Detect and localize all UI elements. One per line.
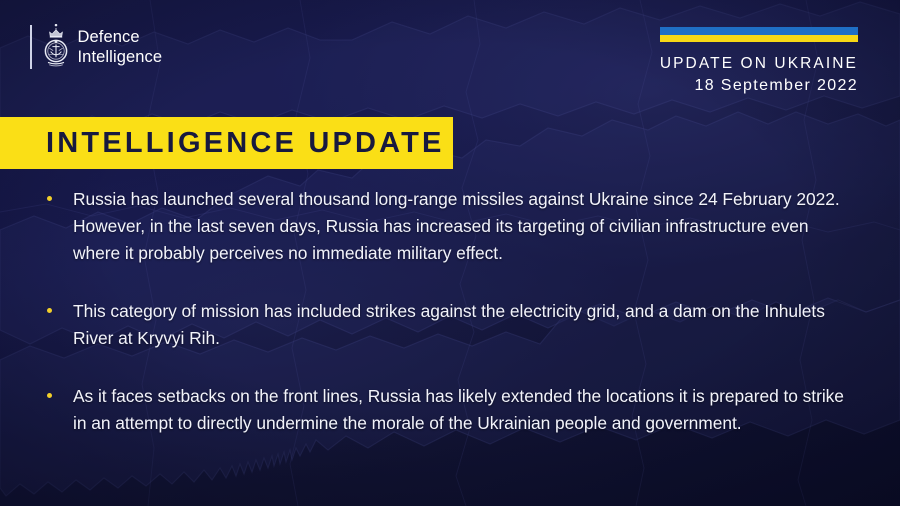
bullet-dot-icon [47, 196, 52, 201]
bullet-text: Russia has launched several thousand lon… [73, 189, 840, 263]
brand-wordmark: Defence Intelligence [78, 27, 163, 67]
intelligence-update-banner: INTELLIGENCE UPDATE [0, 117, 453, 169]
list-item: Russia has launched several thousand lon… [46, 186, 846, 267]
ukraine-flag-bar [660, 27, 858, 42]
bullet-dot-icon [47, 393, 52, 398]
bullet-text: This category of mission has included st… [73, 301, 825, 348]
flag-blue-stripe [660, 27, 858, 35]
bullet-dot-icon [47, 308, 52, 313]
list-item: This category of mission has included st… [46, 298, 846, 352]
update-title: UPDATE ON UKRAINE [660, 53, 858, 74]
vertical-rule-divider [30, 25, 32, 69]
banner-label: INTELLIGENCE UPDATE [46, 129, 445, 158]
defence-intelligence-logo: Defence Intelligence [30, 24, 162, 70]
update-header-block: UPDATE ON UKRAINE 18 September 2022 [660, 27, 858, 97]
flag-yellow-stripe [660, 35, 858, 43]
intelligence-update-poster: Defence Intelligence UPDATE ON UKRAINE 1… [0, 0, 900, 506]
list-item: As it faces setbacks on the front lines,… [46, 383, 846, 437]
brand-line-2: Intelligence [78, 47, 163, 67]
bullet-list: Russia has launched several thousand lon… [46, 186, 846, 437]
update-date: 18 September 2022 [660, 74, 858, 97]
royal-crest-icon [43, 24, 69, 70]
bullet-text: As it faces setbacks on the front lines,… [73, 386, 844, 433]
brand-line-1: Defence [78, 27, 163, 47]
